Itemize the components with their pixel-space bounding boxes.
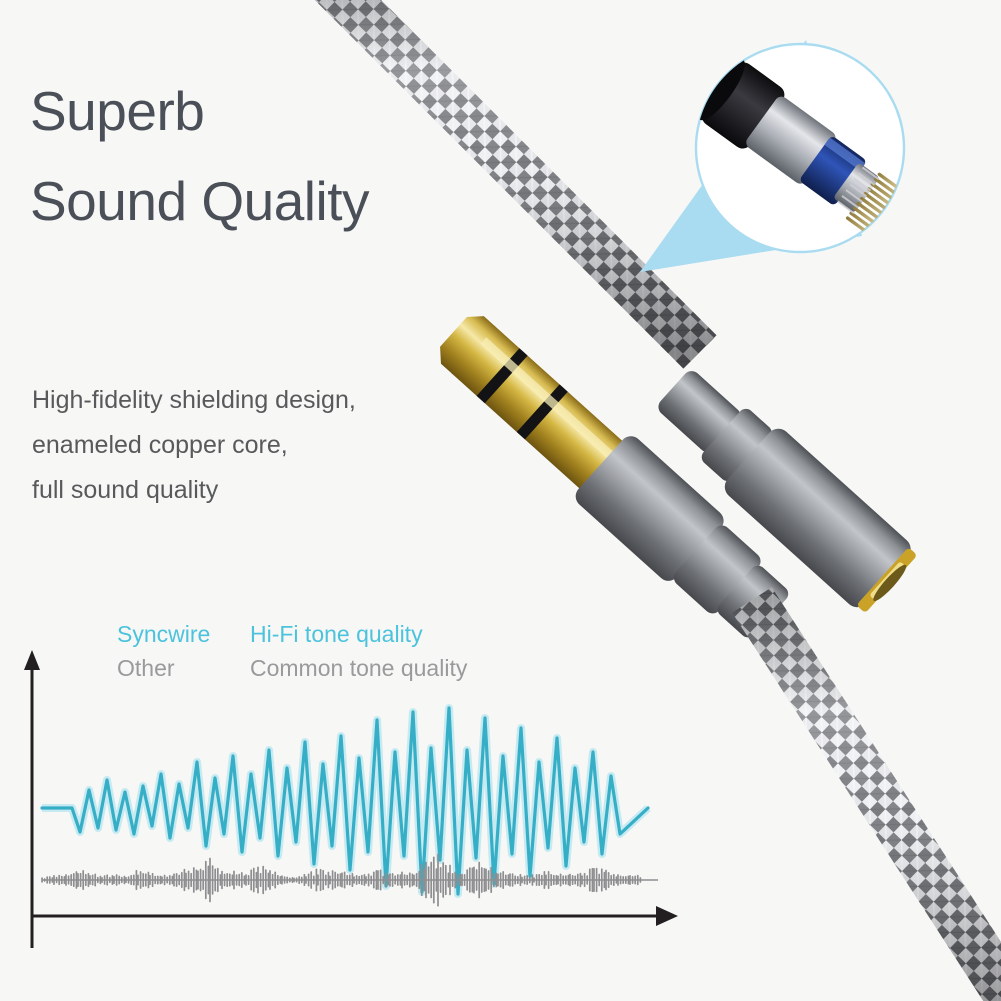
waveform-comparison-chart (18, 648, 698, 948)
page-title: Superb Sound Quality (30, 66, 500, 246)
bodycopy-line-1: High-fidelity shielding design, (32, 378, 472, 423)
headline-line-2: Sound Quality (30, 156, 500, 246)
series-hifi-waveform (42, 708, 648, 894)
y-axis-arrow (24, 650, 40, 670)
legend-brand-syncwire: Syncwire (117, 621, 250, 648)
bodycopy-line-3: full sound quality (32, 468, 472, 513)
product-marketing-image: Superb Sound Quality High-fidelity shiel… (0, 0, 1001, 1001)
feature-description: High-fidelity shielding design, enameled… (32, 378, 472, 513)
bodycopy-line-2: enameled copper core, (32, 423, 472, 468)
lower-cable (752, 600, 1001, 1001)
x-axis-arrow (656, 906, 678, 926)
legend-desc-hifi: Hi-Fi tone quality (250, 621, 423, 648)
headline-line-1: Superb (30, 66, 500, 156)
